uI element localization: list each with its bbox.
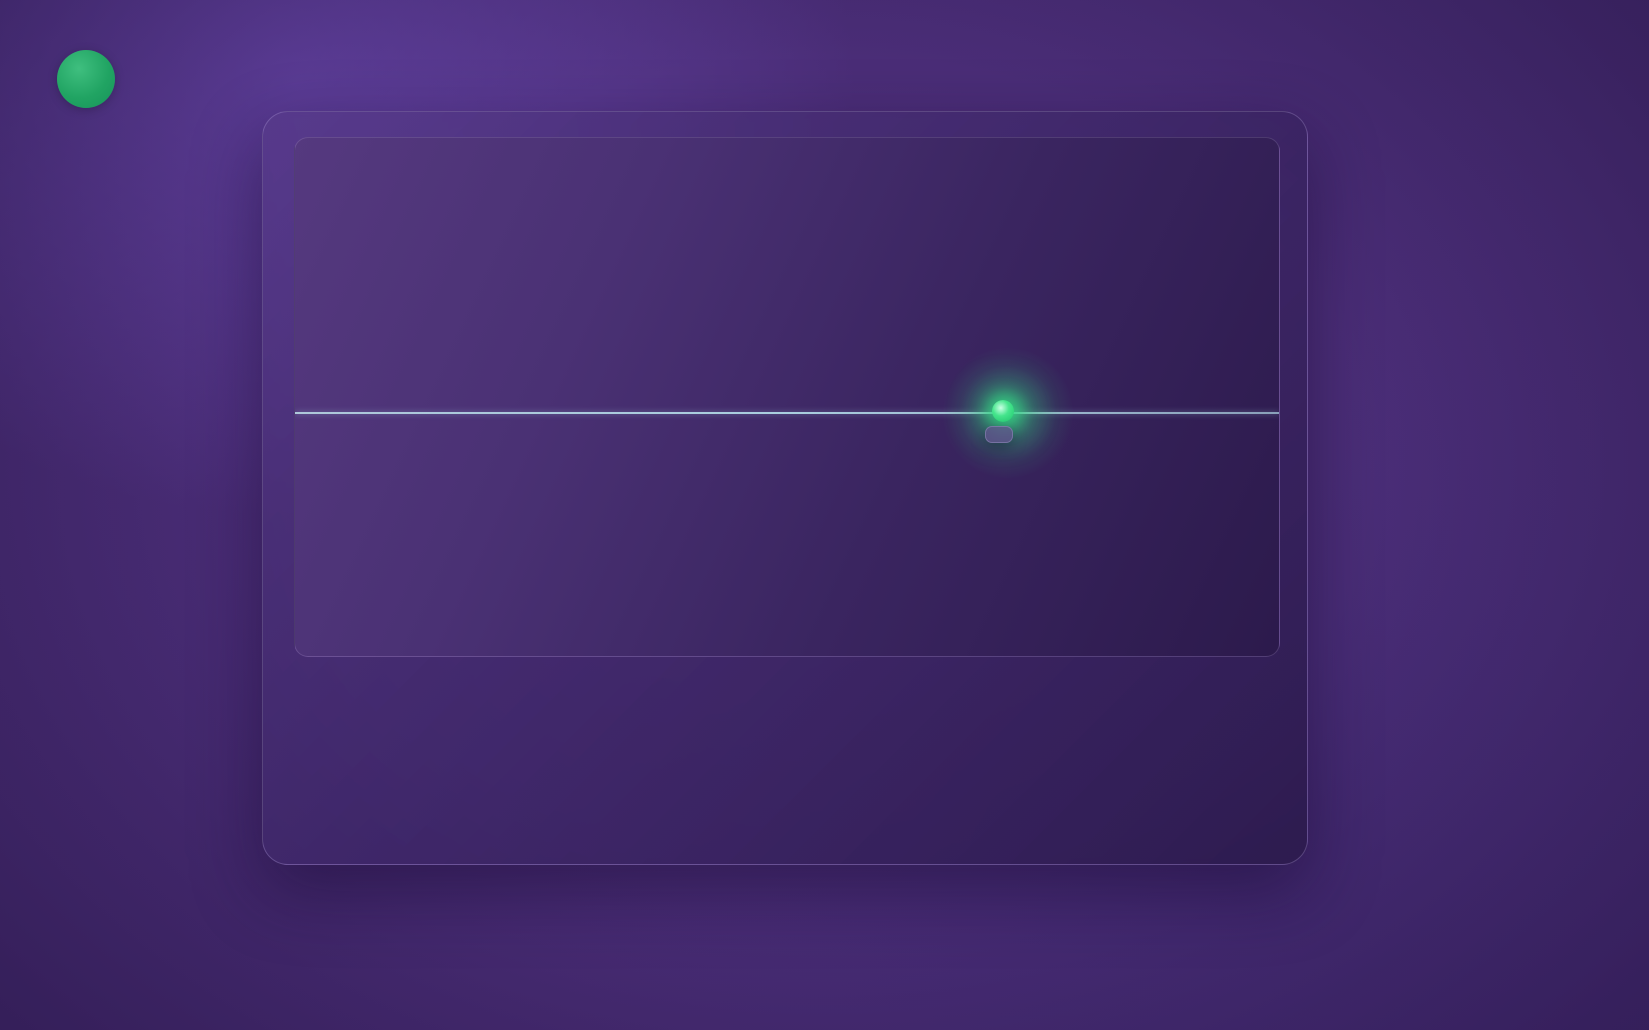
order-status-card [262, 111, 1308, 865]
order-executed-marker-icon[interactable] [992, 400, 1014, 422]
trigger-price-line [295, 412, 1279, 414]
dhan-logo-icon [57, 50, 115, 108]
order-executed-tooltip [985, 426, 1013, 443]
brand-logo [57, 50, 131, 108]
candlestick-chart-panel[interactable] [294, 137, 1280, 657]
candlestick-series [295, 138, 1279, 656]
